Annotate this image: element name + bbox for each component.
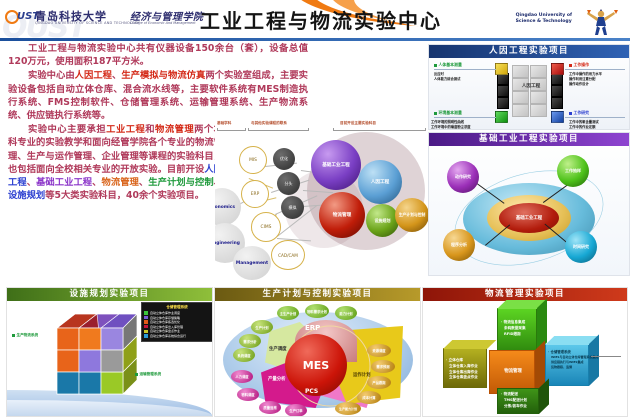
- basic-ie-sphere-3: 时间研究: [565, 231, 597, 263]
- node-mis: MIS: [239, 146, 267, 174]
- panel-pmc-title: 生产计划与控制实验项目: [215, 288, 420, 301]
- pmc-pink-node-1: 物料调度: [237, 388, 259, 401]
- node-simulation: 模拟: [281, 196, 304, 219]
- pmc-ring-erp: ERP: [305, 324, 320, 332]
- legend-item: 自动立体仓库作业调度: [144, 311, 210, 315]
- logistics-label-info: · 物流信息集成 条码数据采集 RFID跟踪: [501, 320, 526, 337]
- pmc-top-node-1: 物料需求计划: [305, 304, 329, 318]
- ergonomics-label-2: 环境基本测量: [434, 110, 462, 116]
- poster-page: QUST UST 青岛科技大学 QINGDAO UNIVERSITY OF SC…: [0, 0, 630, 420]
- legend-item: 自动立体仓库盘点作业: [144, 329, 210, 333]
- pmc-top-node-0: 主生产计划: [277, 306, 299, 320]
- node-erp: ERP: [241, 180, 269, 208]
- pmc-green-node-2: 系统调度: [233, 348, 255, 362]
- logistics-label-delivery: · 物流配送 TMS配送计划 分拣/装车作业: [501, 392, 527, 409]
- legend-item: 自动立体仓库拣选优化: [144, 320, 210, 324]
- panel-logistics: 物流管理实验项目 · 物流信息集成 条码数据采集 RFID跟踪 · 立体仓库 立…: [422, 287, 628, 417]
- pmc-pink-node-3: 生产订单: [285, 404, 307, 417]
- pmc-gold-node-2: 产品跟踪: [367, 376, 391, 389]
- panel-basic-ie-title: 基础工业工程实验项目: [429, 133, 629, 146]
- panel-facility-planning: 设施规划实验项目: [6, 287, 213, 417]
- pmc-core-mes: MES: [285, 334, 347, 396]
- ergonomics-label-0: 人体基本测量: [434, 62, 462, 68]
- ergonomics-detail-0: 反应时 人体能力综合测试: [434, 72, 460, 82]
- ergonomics-detail-2: 工作环境的照明性曲线 工作环境中的噪度粉尘浓度 工作环境中的微控温度与作用: [431, 120, 474, 130]
- pmc-gold-node-4: 生产能力计划: [335, 402, 361, 415]
- mascot-icon: [580, 6, 622, 36]
- intro-paragraph-3: 实验中心主要承担工业工程和物流管理两个本科专业的实验教学和面向经管学院各个专业的…: [8, 123, 223, 202]
- panel-production-planning: 生产计划与控制实验项目 MES ERP PCS 生产调度 产量分析 运作计划 主…: [214, 287, 421, 417]
- pmc-pink-node-2: 质量追溯: [259, 401, 281, 414]
- axis-label-2: 目前开设主要实验科目: [340, 121, 376, 126]
- panel-ergonomics-title: 人因工程实验项目: [429, 45, 629, 58]
- basic-ie-sphere-1: 工作抽样: [557, 155, 589, 187]
- node-cad-cam: CAD/CAM: [271, 240, 305, 270]
- intro-paragraph-2: 实验中心由人因工程、生产模拟与物流仿真两个实验室组成，主要实验设备包括自动立体仓…: [8, 69, 308, 122]
- sphere-ergonomics: 人因工程: [358, 160, 402, 204]
- intro-paragraph-1: 工业工程与物流实验中心共有仪器设备150余台（套），设备总值120万元，使用面积…: [8, 42, 308, 68]
- college-name-en: College of Economic And Management: [130, 21, 196, 25]
- panel-basic-ie: 基础工业工程实验项目 基础工业工程 动作研究 工作抽样 程序分析 时间研究: [428, 132, 630, 276]
- basic-ie-sphere-2: 程序分析: [443, 229, 475, 261]
- node-analysis: 分头: [277, 172, 300, 195]
- ergonomics-label-1: 工作操作: [569, 62, 589, 68]
- axis-label-0: 基础学科: [217, 121, 231, 126]
- pmc-green-node-0: 生产计划: [251, 320, 273, 334]
- node-management: Management: [233, 246, 271, 280]
- facility-legend: 仓储管理系统 自动立体仓库作业调度 自动立体仓库存储策略 自动立体仓库拣选优化 …: [141, 302, 213, 342]
- panel-facility-title: 设施规划实验项目: [7, 288, 212, 301]
- sphere-logistics: 物流管理: [319, 192, 365, 238]
- page-title: 工业工程与物流实验中心: [196, 5, 446, 34]
- pmc-label-scheduling: 生产调度: [269, 346, 287, 352]
- pmc-green-node-1: 需求分析: [239, 334, 261, 348]
- ergonomics-center-label: 人因工程: [513, 83, 549, 89]
- pmc-pink-node-0: 人力调度: [231, 370, 253, 383]
- facility-label-0: 生产物流系统: [12, 333, 38, 338]
- ergonomics-label-3: 工作研究: [569, 110, 589, 116]
- logistics-label-warehouse: · 立体仓库 立体仓库入库作业 立体仓库出库作业 立体仓库盘点作业: [446, 358, 478, 381]
- axis-label-1: 与其他实验课程的联系: [251, 121, 287, 126]
- pmc-label-operations: 运作计划: [353, 372, 371, 378]
- logistics-label-wms: · 仓储管理系统 WMS与自动立体仓库管理系统集成 供应链执行与WMS集成 货物…: [548, 350, 598, 370]
- node-economics: Economics: [215, 188, 241, 226]
- ergonomics-detail-3: 工作中的氧含量测试 工作中的作业定额: [569, 120, 599, 130]
- pmc-gold-node-1: 需求预测: [371, 360, 395, 373]
- cube-red: [551, 63, 564, 75]
- legend-item: 自动立体仓库系统综合运行: [144, 334, 210, 338]
- node-cims: CIMS: [251, 212, 281, 242]
- cube-yellow: [495, 63, 508, 75]
- sphere-pmc: 生产计划与控制: [395, 198, 429, 232]
- logistics-center-label: 物流管理: [493, 368, 533, 374]
- ergonomics-center-cube: [512, 65, 550, 117]
- facility-legend-title: 仓储管理系统: [144, 305, 210, 310]
- pmc-label-output: 产量分析: [268, 376, 286, 382]
- pmc-ring-pcs: PCS: [305, 388, 318, 395]
- header-divider: [0, 38, 630, 41]
- legend-item: 自动立体仓库存储策略: [144, 316, 210, 320]
- qust-logo-icon: UST: [5, 10, 31, 26]
- basic-ie-sphere-0: 动作研究: [447, 161, 479, 193]
- sphere-basic-ie: 基础工业工程: [311, 140, 361, 190]
- poster-header: QUST UST 青岛科技大学 QINGDAO UNIVERSITY OF SC…: [0, 0, 630, 40]
- sphere-facility: 设施规划: [366, 204, 399, 237]
- cube-blue: [551, 111, 564, 123]
- panel-ergonomics: 人因工程实验项目 人因工程 人体基本测量 反应时: [428, 44, 630, 130]
- pmc-top-node-2: 能力计划: [335, 306, 357, 320]
- facility-label-1: 运输管理系统: [135, 372, 161, 377]
- node-optimization: 优化: [273, 148, 295, 170]
- qust-english-name: Qingdao University ofScience & Technolog…: [516, 13, 572, 25]
- ergonomics-detail-1: 工作中操作的用力水平 操作利用注意分配 操作动作设计: [569, 72, 602, 87]
- university-name-en: QINGDAO UNIVERSITY OF SCIENCE AND TECHNO…: [35, 21, 140, 25]
- cube-green: [495, 111, 508, 123]
- pmc-gold-node-3: 成本计算: [357, 391, 381, 404]
- discipline-network-diagram: 基础学科 与其他实验课程的联系 目前开设主要实验科目 Economics Eng…: [215, 118, 430, 280]
- pmc-gold-node-0: 资源调度: [367, 344, 391, 357]
